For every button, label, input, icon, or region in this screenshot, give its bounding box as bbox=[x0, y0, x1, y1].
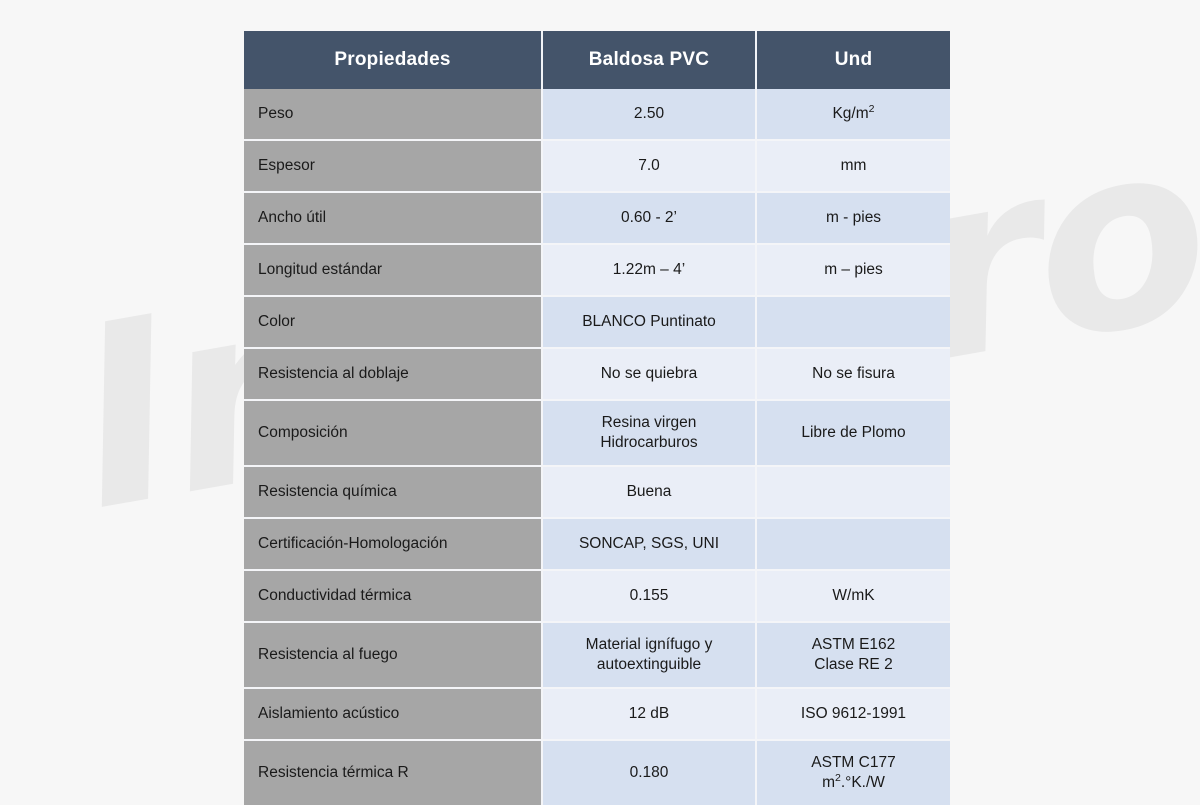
cell-unit: Libre de Plomo bbox=[757, 401, 950, 467]
table-row: Espesor7.0mm bbox=[244, 141, 950, 193]
column-header-propiedades: Propiedades bbox=[244, 31, 543, 89]
cell-value: Resina virgenHidrocarburos bbox=[543, 401, 757, 467]
cell-value: 7.0 bbox=[543, 141, 757, 193]
table-row: Resistencia al doblajeNo se quiebraNo se… bbox=[244, 349, 950, 401]
cell-property: Aislamiento acústico bbox=[244, 689, 543, 741]
cell-unit bbox=[757, 519, 950, 571]
cell-unit: W/mK bbox=[757, 571, 950, 623]
table-row: Conductividad térmica0.155W/mK bbox=[244, 571, 950, 623]
cell-property: Resistencia al doblaje bbox=[244, 349, 543, 401]
table-row: Certificación-HomologaciónSONCAP, SGS, U… bbox=[244, 519, 950, 571]
cell-value: SONCAP, SGS, UNI bbox=[543, 519, 757, 571]
table-row: Aislamiento acústico12 dBISO 9612-1991 bbox=[244, 689, 950, 741]
cell-unit-line-2: Clase RE 2 bbox=[765, 655, 942, 675]
cell-value: 0.60 - 2’ bbox=[543, 193, 757, 245]
cell-unit bbox=[757, 467, 950, 519]
cell-unit: m - pies bbox=[757, 193, 950, 245]
cell-value-line-1: Resina virgen bbox=[551, 413, 747, 433]
cell-value-line-2: autoextinguible bbox=[551, 655, 747, 675]
cell-value: BLANCO Puntinato bbox=[543, 297, 757, 349]
specification-table: Propiedades Baldosa PVC Und Peso2.50Kg/m… bbox=[244, 31, 950, 805]
column-header-baldosa-pvc: Baldosa PVC bbox=[543, 31, 757, 89]
cell-unit: ASTM C177m2.°K./W bbox=[757, 741, 950, 805]
table-row: Longitud estándar1.22m – 4’m – pies bbox=[244, 245, 950, 297]
table-row: Resistencia químicaBuena bbox=[244, 467, 950, 519]
cell-unit: Kg/m2 bbox=[757, 89, 950, 141]
cell-property: Conductividad térmica bbox=[244, 571, 543, 623]
cell-property: Resistencia química bbox=[244, 467, 543, 519]
cell-property: Color bbox=[244, 297, 543, 349]
table-row: Resistencia al fuegoMaterial ignífugo ya… bbox=[244, 623, 950, 689]
cell-value: 2.50 bbox=[543, 89, 757, 141]
table-row: Peso2.50Kg/m2 bbox=[244, 89, 950, 141]
table-row: ColorBLANCO Puntinato bbox=[244, 297, 950, 349]
table-row: Resistencia térmica R0.180ASTM C177m2.°K… bbox=[244, 741, 950, 805]
cell-unit-line-2: m2.°K./W bbox=[765, 773, 942, 793]
table-row: ComposiciónResina virgenHidrocarburosLib… bbox=[244, 401, 950, 467]
cell-unit: m – pies bbox=[757, 245, 950, 297]
specification-table-container: Propiedades Baldosa PVC Und Peso2.50Kg/m… bbox=[244, 31, 950, 805]
cell-property: Resistencia térmica R bbox=[244, 741, 543, 805]
table-header: Propiedades Baldosa PVC Und bbox=[244, 31, 950, 89]
cell-unit: mm bbox=[757, 141, 950, 193]
cell-value: No se quiebra bbox=[543, 349, 757, 401]
cell-unit: No se fisura bbox=[757, 349, 950, 401]
cell-property: Ancho útil bbox=[244, 193, 543, 245]
cell-value: 0.180 bbox=[543, 741, 757, 805]
cell-unit bbox=[757, 297, 950, 349]
cell-value-line-1: Material ignífugo y bbox=[551, 635, 747, 655]
table-body: Peso2.50Kg/m2Espesor7.0mmAncho útil0.60 … bbox=[244, 89, 950, 805]
column-header-und: Und bbox=[757, 31, 950, 89]
table-header-row: Propiedades Baldosa PVC Und bbox=[244, 31, 950, 89]
cell-unit-line-1: ASTM C177 bbox=[765, 753, 942, 773]
cell-value: 0.155 bbox=[543, 571, 757, 623]
cell-unit: ASTM E162Clase RE 2 bbox=[757, 623, 950, 689]
cell-value-line-2: Hidrocarburos bbox=[551, 433, 747, 453]
cell-unit: ISO 9612-1991 bbox=[757, 689, 950, 741]
cell-property: Certificación-Homologación bbox=[244, 519, 543, 571]
table-row: Ancho útil0.60 - 2’m - pies bbox=[244, 193, 950, 245]
cell-value: 12 dB bbox=[543, 689, 757, 741]
cell-value: 1.22m – 4’ bbox=[543, 245, 757, 297]
cell-property: Composición bbox=[244, 401, 543, 467]
cell-property: Espesor bbox=[244, 141, 543, 193]
cell-property: Peso bbox=[244, 89, 543, 141]
cell-property: Longitud estándar bbox=[244, 245, 543, 297]
cell-unit-line-1: ASTM E162 bbox=[765, 635, 942, 655]
cell-value: Material ignífugo yautoextinguible bbox=[543, 623, 757, 689]
cell-property: Resistencia al fuego bbox=[244, 623, 543, 689]
cell-value: Buena bbox=[543, 467, 757, 519]
